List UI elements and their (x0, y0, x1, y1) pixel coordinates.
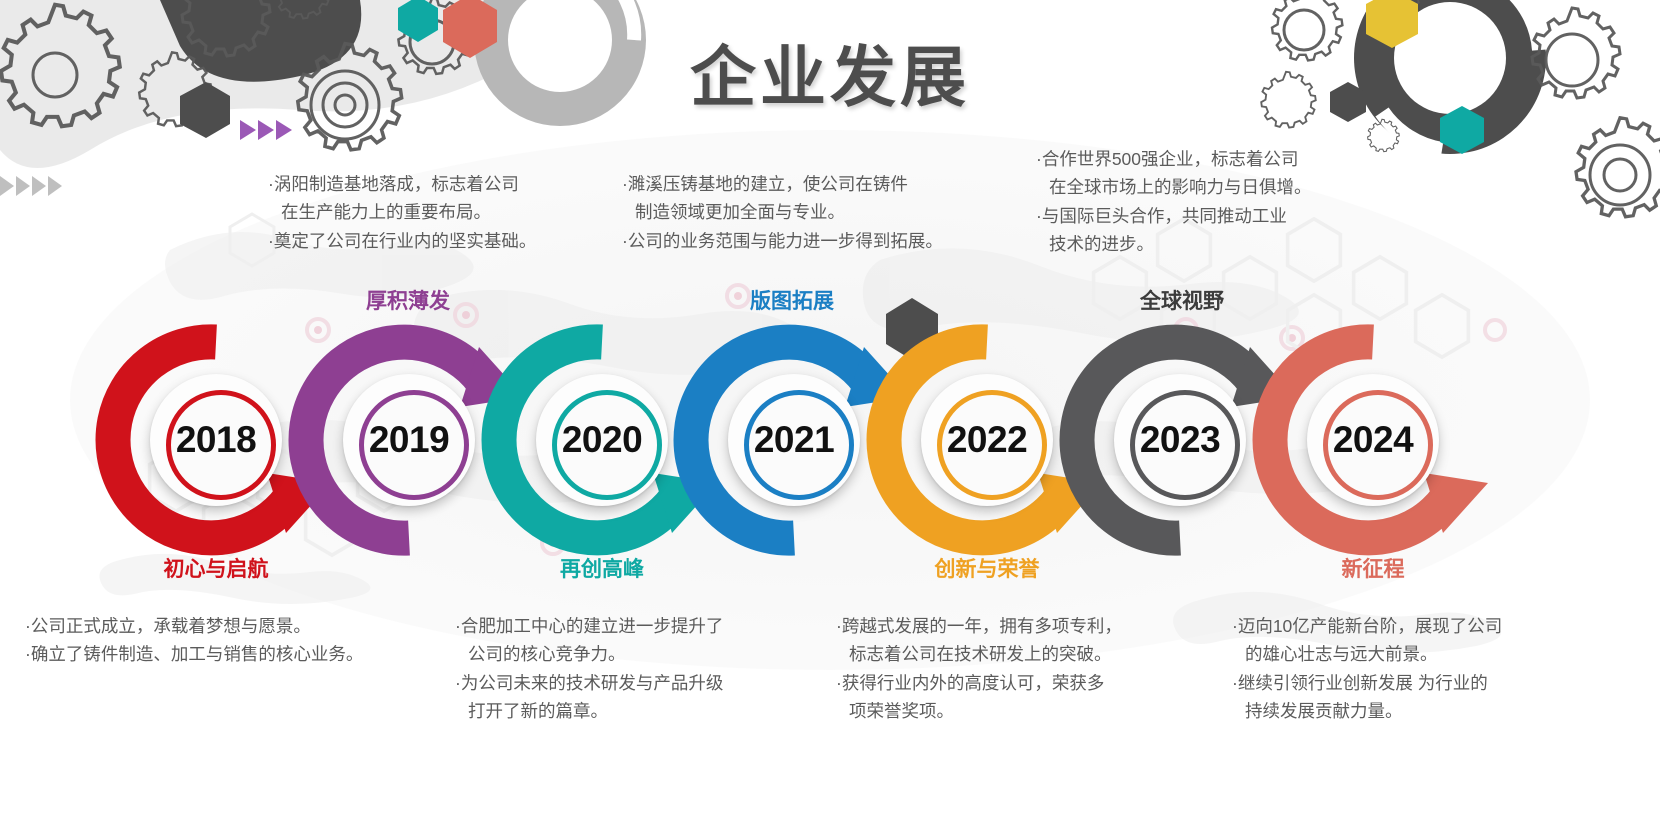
year-hub-2024[interactable]: 2024 (1307, 374, 1439, 506)
detail-line: 在全球市场上的影响力与日俱增。 (1036, 173, 1312, 201)
detail-block-2018: ·公司正式成立，承载着梦想与愿景。 ·确立了铸件制造、加工与销售的核心业务。 (25, 612, 363, 669)
chevron-marks-icon (0, 176, 62, 196)
detail-block-2023: ·合作世界500强企业，标志着公司 在全球市场上的影响力与日俱增。 ·与国际巨头… (1036, 145, 1312, 258)
detail-line: ·继续引领行业创新发展 为行业的 (1232, 669, 1502, 697)
detail-line: 持续发展贡献力量。 (1232, 697, 1502, 725)
detail-line: ·合肥加工中心的建立进一步提升了 (455, 612, 723, 640)
page-title: 企业发展 (0, 24, 1660, 120)
stage-label-2019: 厚积薄发 (366, 285, 450, 315)
detail-line: 打开了新的篇章。 (455, 697, 723, 725)
detail-line: ·公司的业务范围与能力进一步得到拓展。 (622, 227, 943, 255)
year-hub-2020[interactable]: 2020 (536, 374, 668, 506)
timeline: 2018 2019 2020 (0, 325, 1660, 555)
detail-line: ·为公司未来的技术研发与产品升级 (455, 669, 723, 697)
triple-arrow-icon (240, 120, 292, 140)
detail-line: 标志着公司在技术研发上的突破。 (836, 640, 1122, 668)
year-label: 2022 (947, 419, 1027, 461)
detail-line: ·获得行业内外的高度认可，荣获多 (836, 669, 1122, 697)
detail-line: ·涡阳制造基地落成，标志着公司 (268, 170, 536, 198)
detail-block-2024: ·迈向10亿产能新台阶，展现了公司 的雄心壮志与远大前景。 ·继续引领行业创新发… (1232, 612, 1502, 725)
stage-label-2020: 再创高峰 (560, 553, 644, 583)
year-label: 2018 (176, 419, 256, 461)
year-label: 2021 (754, 419, 834, 461)
detail-line: 的雄心壮志与远大前景。 (1232, 640, 1502, 668)
stage-label-2024: 新征程 (1342, 553, 1405, 583)
year-label: 2023 (1140, 419, 1220, 461)
year-label: 2019 (369, 419, 449, 461)
stage-label-2022: 创新与荣誉 (935, 553, 1040, 583)
year-hub-2022[interactable]: 2022 (921, 374, 1053, 506)
timeline-stage-2024[interactable]: 2024 (1258, 325, 1488, 555)
detail-line: 技术的进步。 (1036, 230, 1312, 258)
detail-line: ·合作世界500强企业，标志着公司 (1036, 145, 1312, 173)
detail-block-2019: ·涡阳制造基地落成，标志着公司 在生产能力上的重要布局。 ·奠定了公司在行业内的… (268, 170, 536, 255)
detail-line: 在生产能力上的重要布局。 (268, 198, 536, 226)
year-hub-2019[interactable]: 2019 (343, 374, 475, 506)
detail-line: ·确立了铸件制造、加工与销售的核心业务。 (25, 640, 363, 668)
year-label: 2024 (1333, 419, 1413, 461)
year-label: 2020 (562, 419, 642, 461)
detail-line: ·公司正式成立，承载着梦想与愿景。 (25, 612, 363, 640)
detail-line: ·迈向10亿产能新台阶，展现了公司 (1232, 612, 1502, 640)
stage-label-2018: 初心与启航 (164, 553, 269, 583)
stage-label-2021: 版图拓展 (750, 285, 834, 315)
year-hub-2021[interactable]: 2021 (728, 374, 860, 506)
detail-line: ·与国际巨头合作，共同推动工业 (1036, 202, 1312, 230)
detail-line: 制造领域更加全面与专业。 (622, 198, 943, 226)
detail-block-2021: ·濉溪压铸基地的建立，使公司在铸件 制造领域更加全面与专业。 ·公司的业务范围与… (622, 170, 943, 255)
year-hub-2018[interactable]: 2018 (150, 374, 282, 506)
detail-line: ·跨越式发展的一年，拥有多项专利， (836, 612, 1122, 640)
year-hub-2023[interactable]: 2023 (1114, 374, 1246, 506)
detail-block-2022: ·跨越式发展的一年，拥有多项专利， 标志着公司在技术研发上的突破。 ·获得行业内… (836, 612, 1122, 725)
detail-line: ·濉溪压铸基地的建立，使公司在铸件 (622, 170, 943, 198)
detail-line: 公司的核心竞争力。 (455, 640, 723, 668)
detail-block-2020: ·合肥加工中心的建立进一步提升了 公司的核心竞争力。 ·为公司未来的技术研发与产… (455, 612, 723, 725)
stage-label-2023: 全球视野 (1140, 285, 1224, 315)
detail-line: 项荣誉奖项。 (836, 697, 1122, 725)
detail-line: ·奠定了公司在行业内的坚实基础。 (268, 227, 536, 255)
